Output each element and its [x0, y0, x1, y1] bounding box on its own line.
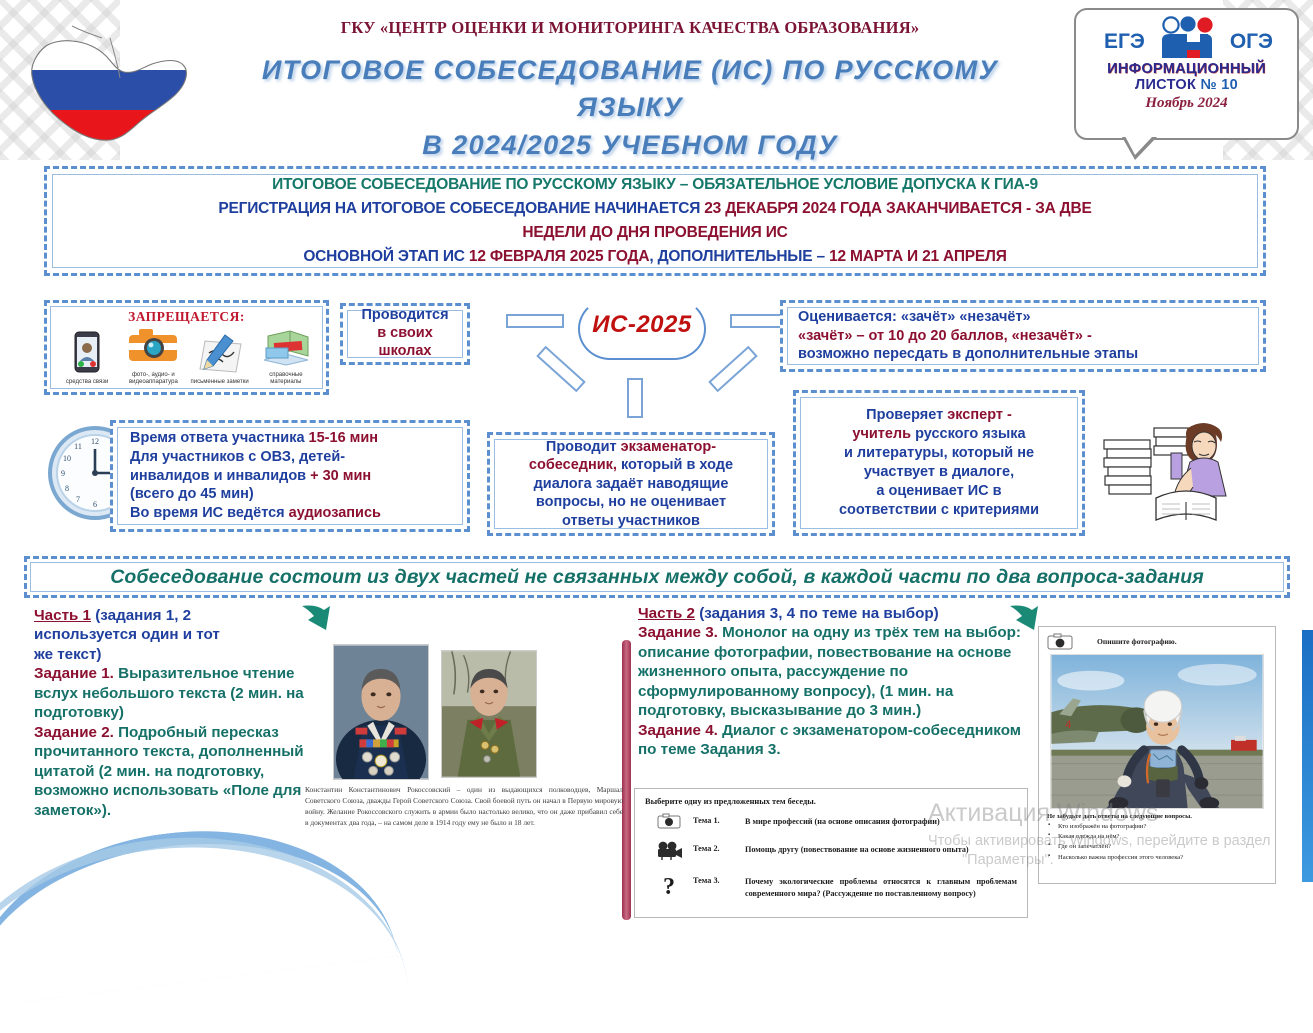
organization-title: ГКУ «ЦЕНТР ОЦЕНКИ И МОНИТОРИНГА КАЧЕСТВА… [210, 18, 1050, 38]
photo-questions-list: Кто изображён на фотографии? Какая одежд… [1047, 822, 1267, 863]
expert-line-1: Проверяет эксперт - [805, 406, 1073, 425]
reference-books-icon [260, 326, 312, 366]
photo-camera-icon [1047, 633, 1073, 650]
commander-field-uniform-portrait [441, 650, 537, 778]
part1-text-block: Часть 1 (задания 1, 2 используется один … [34, 606, 306, 820]
hub-spoke-bottom-right [708, 346, 757, 393]
topic-row: ? Тема 3. Почему экологические проблемы … [645, 873, 1017, 904]
photo-card-header: Опишите фотографию. [1047, 633, 1267, 650]
bubble-date: Ноябрь 2024 [1076, 95, 1297, 112]
expert-line-2: учитель русского языка [805, 425, 1073, 444]
svg-text:12: 12 [91, 437, 99, 446]
announce-line-1: ИТОГОВОЕ СОБЕСЕДОВАНИЕ ПО РУССКОМУ ЯЗЫКУ… [69, 173, 1241, 197]
time-limits-panel: Время ответа участника 15-16 мин Для уча… [110, 420, 470, 532]
announce-line-4a: ОСНОВНОЙ ЭТАП ИС [303, 248, 469, 265]
mobile-phone-icon [74, 331, 100, 373]
info-sheet-bubble: ЕГЭ ОГЭ ИНФОРМАЦИОННЫЙ ЛИСТОК № 10 Ноябр… [1074, 8, 1299, 140]
examiner-line-4: вопросы, но не оценивает [499, 493, 763, 511]
describe-photo-card: Опишите фотографию. 4 [1038, 626, 1276, 884]
time-line-1b: 15-16 мин [309, 430, 379, 446]
divider-text: Собеседование состоит из двух частей не … [110, 566, 1204, 589]
part1-heading: Часть 1 (задания 1, 2 [34, 606, 306, 625]
examiner-line-2b: который в ходе [617, 457, 733, 473]
photo-question-item: Какая одежда на нём? [1047, 832, 1267, 842]
decorative-maroon-stripe [622, 640, 631, 920]
prohibited-item-label: средства связи [54, 379, 120, 386]
main-title-line1: ИТОГОВОЕ СОБЕСЕДОВАНИЕ (ИС) ПО РУССКОМУ … [210, 52, 1050, 127]
topic-number: Тема 3. [693, 873, 745, 885]
photo-question-item: Где он запечатлён? [1047, 842, 1267, 852]
announce-line-4d: 12 МАРТА И 21 АПРЕЛЯ [829, 248, 1007, 265]
part2-head-rest: (задания 3, 4 по теме на выбор) [695, 605, 939, 622]
time-line-3a: инвалидов и инвалидов [130, 468, 310, 484]
photo-card-title: Опишите фотографию. [1097, 637, 1177, 646]
rokossovsky-photos [305, 640, 535, 782]
topics-selection-card: Выберите одну из предложенных тем беседы… [634, 788, 1028, 918]
hub-spoke-left [506, 314, 564, 328]
part1-task-2: Задание 2. Подробный пересказ прочитанно… [34, 723, 306, 820]
part2-task-3: Задание 3. Монолог на одну из трёх тем н… [638, 623, 1034, 720]
photo-questions-heading: Не забудьте дать ответы на следующие воп… [1047, 813, 1267, 820]
topic-text: Помощь другу (повествование на основе жи… [745, 841, 1017, 856]
part1-task2-label: Задание 2. [34, 724, 114, 741]
oge-label: ОГЭ [1230, 30, 1273, 54]
bubble-line-2: ЛИСТОК № 10 [1076, 77, 1297, 93]
hub-circle: ИС-2025 [578, 298, 706, 360]
examiner-line-1b: экзаменатор- [621, 439, 716, 455]
expert-line-3: и литературы, который не [805, 444, 1073, 463]
part1-head-rest: (задания 1, 2 [91, 607, 191, 624]
expert-panel: Проверяет эксперт - учитель русского язы… [793, 390, 1085, 536]
examiner-line-3: диалога задаёт наводящие [499, 475, 763, 493]
examiner-panel: Проводит экзаменатор- собеседник, которы… [487, 432, 775, 536]
topic-number: Тема 2. [693, 841, 745, 853]
time-line-1a: Время ответа участника [130, 430, 309, 446]
topic-text: Почему экологические проблемы относятся … [745, 873, 1017, 900]
expert-line-6: соответствии с критериями [805, 501, 1073, 520]
part2-text-block: Часть 2 (задания 3, 4 по теме на выбор) … [638, 604, 1034, 760]
hub-spoke-bottom [627, 378, 643, 418]
girl-reading-books-icon [1098, 398, 1253, 530]
down-arrow-icon [300, 604, 334, 636]
topic-text: В мире профессий (на основе описания фот… [745, 813, 1017, 828]
announce-line-2: РЕГИСТРАЦИЯ НА ИТОГОВОЕ СОБЕСЕДОВАНИЕ НА… [69, 197, 1241, 221]
ege-oge-people-logo-icon [1150, 16, 1224, 60]
announce-line-4c: , ДОПОЛНИТЕЛЬНЫЕ – [649, 248, 829, 265]
part1-label: Часть 1 [34, 607, 91, 624]
main-title-line2: В 2024/2025 УЧЕБНОМ ГОДУ [210, 127, 1050, 164]
expert-line-1b: эксперт - [947, 407, 1012, 423]
topic-row: Тема 1. В мире профессий (на основе опис… [645, 813, 1017, 834]
examiner-line-1a: Проводит [546, 439, 621, 455]
evaluation-line-1: Оценивается: «зачёт» «незачёт» [798, 308, 1258, 326]
sheet-number: № 10 [1200, 77, 1238, 93]
svg-text:11: 11 [74, 442, 82, 451]
time-line-3: инвалидов и инвалидов + 30 мин [130, 467, 462, 486]
time-line-5a: Во время ИС ведётся [130, 505, 289, 521]
part1-line-2: используется один и тот [34, 625, 306, 644]
expert-line-2a: учитель [852, 426, 911, 442]
expert-line-5: а оценивает ИС в [805, 482, 1073, 501]
marshal-dress-uniform-portrait [333, 644, 429, 780]
poster-header: ГКУ «ЦЕНТР ОЦЕНКИ И МОНИТОРИНГА КАЧЕСТВА… [0, 0, 1313, 160]
is-2025-hub: ИС-2025 [500, 296, 790, 421]
camera-icon [127, 326, 179, 366]
schools-line-2: в своих [348, 325, 462, 343]
announce-line-4: ОСНОВНОЙ ЭТАП ИС 12 ФЕВРАЛЯ 2025 ГОДА, Д… [69, 245, 1241, 269]
announce-line-4b: 12 ФЕВРАЛЯ 2025 ГОДА [469, 248, 649, 265]
schools-line-1: Проводится [348, 307, 462, 325]
evaluation-line-2: «зачёт» – от 10 до 20 баллов, «незачёт» … [798, 327, 1258, 345]
header-text-block: ГКУ «ЦЕНТР ОЦЕНКИ И МОНИТОРИНГА КАЧЕСТВА… [210, 18, 1050, 164]
time-line-1: Время ответа участника 15-16 мин [130, 429, 462, 448]
photo-camera-icon [645, 813, 693, 834]
time-line-3b: + 30 мин [310, 468, 371, 484]
announcement-banner: ИТОГОВОЕ СОБЕСЕДОВАНИЕ ПО РУССКОМУ ЯЗЫКУ… [44, 166, 1266, 276]
ege-oge-logo: ЕГЭ ОГЭ [1076, 16, 1297, 60]
prohibited-item: письменные заметки [187, 333, 253, 386]
prohibited-title: ЗАПРЕЩАЕТСЯ: [54, 309, 319, 325]
page-title: ИТОГОВОЕ СОБЕСЕДОВАНИЕ (ИС) ПО РУССКОМУ … [210, 52, 1050, 164]
pencil-notes-icon [195, 333, 245, 373]
part2-heading: Часть 2 (задания 3, 4 по теме на выбор) [638, 604, 1034, 623]
time-line-5: Во время ИС ведётся аудиозапись [130, 504, 462, 523]
examiner-line-1: Проводит экзаменатор- [499, 438, 763, 456]
announce-line-2a: РЕГИСТРАЦИЯ НА ИТОГОВОЕ СОБЕСЕДОВАНИЕ НА… [218, 200, 704, 217]
hub-spoke-bottom-left [536, 346, 585, 393]
crimea-map-russian-flag-icon [14, 8, 199, 156]
topics-card-title: Выберите одну из предложенных тем беседы… [645, 797, 1017, 806]
svg-text:6: 6 [93, 500, 97, 509]
time-line-4: (всего до 45 мин) [130, 485, 462, 504]
examiner-line-5: ответы участников [499, 512, 763, 530]
section-divider-banner: Собеседование состоит из двух частей не … [24, 556, 1290, 598]
down-arrow-icon [1008, 604, 1042, 636]
examiner-line-2a: собеседник, [529, 457, 617, 473]
svg-text:9: 9 [61, 469, 65, 478]
svg-text:10: 10 [63, 454, 71, 463]
prohibited-item-label: письменные заметки [187, 379, 253, 386]
prohibited-items-panel: ЗАПРЕЩАЕТСЯ: средства связи [44, 300, 329, 395]
rokossovsky-caption: Константин Константинович Рокоссовский –… [305, 784, 623, 828]
own-schools-panel: Проводится в своих школах [340, 303, 470, 365]
part1-task1-label: Задание 1. [34, 665, 114, 682]
evaluation-panel: Оценивается: «зачёт» «незачёт» «зачёт» –… [780, 300, 1266, 372]
ege-label: ЕГЭ [1104, 30, 1145, 54]
prohibited-item: фото-, аудио- и видеоаппаратура [120, 326, 186, 386]
announce-line-2b: 23 ДЕКАБРЯ 2024 ГОДА ЗАКАНЧИВАЕТСЯ - ЗА … [704, 200, 1091, 217]
time-line-2: Для участников с ОВЗ, детей- [130, 448, 462, 467]
part2-label: Часть 2 [638, 605, 695, 622]
decorative-right-blue-bar [1302, 630, 1313, 882]
part2-task3-label: Задание 3. [638, 624, 718, 641]
part2-task4-label: Задание 4. [638, 722, 718, 739]
military-pilot-with-jet-photo: 4 [1050, 654, 1264, 809]
hub-label: ИС-2025 [592, 311, 691, 339]
svg-text:4: 4 [1065, 719, 1071, 731]
expert-line-2b: русского языка [911, 426, 1026, 442]
part2-task-4: Задание 4. Диалог с экзаменатором-собесе… [638, 721, 1034, 760]
prohibited-item: справочные материалы [253, 326, 319, 386]
bubble-line-1: ИНФОРМАЦИОННЫЙ [1076, 61, 1297, 77]
photo-question-item: Насколько важна профессия этого человека… [1047, 853, 1267, 863]
movie-camera-icon [645, 841, 693, 866]
expert-line-1a: Проверяет [866, 407, 947, 423]
schools-line-3: школах [348, 343, 462, 361]
time-line-5b: аудиозапись [289, 505, 381, 521]
topic-number: Тема 1. [693, 813, 745, 825]
prohibited-item-label: справочные материалы [253, 372, 319, 386]
svg-text:8: 8 [65, 484, 69, 493]
evaluation-line-3: возможно пересдать в дополнительные этап… [798, 345, 1258, 363]
examiner-line-2: собеседник, который в ходе [499, 456, 763, 474]
part1-task-1: Задание 1. Выразительное чтение вслух не… [34, 664, 306, 722]
expert-line-4: участвует в диалоге, [805, 463, 1073, 482]
topic-row: Тема 2. Помощь другу (повествование на о… [645, 841, 1017, 866]
prohibited-item-label: фото-, аудио- и видеоаппаратура [120, 372, 186, 386]
announce-line-3: НЕДЕЛИ ДО ДНЯ ПРОВЕДЕНИЯ ИС [69, 221, 1241, 245]
part1-line-3: же текст) [34, 645, 306, 664]
question-mark-icon: ? [645, 873, 693, 904]
decorative-wave-2 [0, 815, 408, 1033]
sheet-word: ЛИСТОК [1135, 77, 1196, 93]
svg-text:7: 7 [76, 495, 80, 504]
prohibited-item: средства связи [54, 331, 120, 386]
svg-text:?: ? [663, 874, 675, 899]
photo-question-item: Кто изображён на фотографии? [1047, 822, 1267, 832]
